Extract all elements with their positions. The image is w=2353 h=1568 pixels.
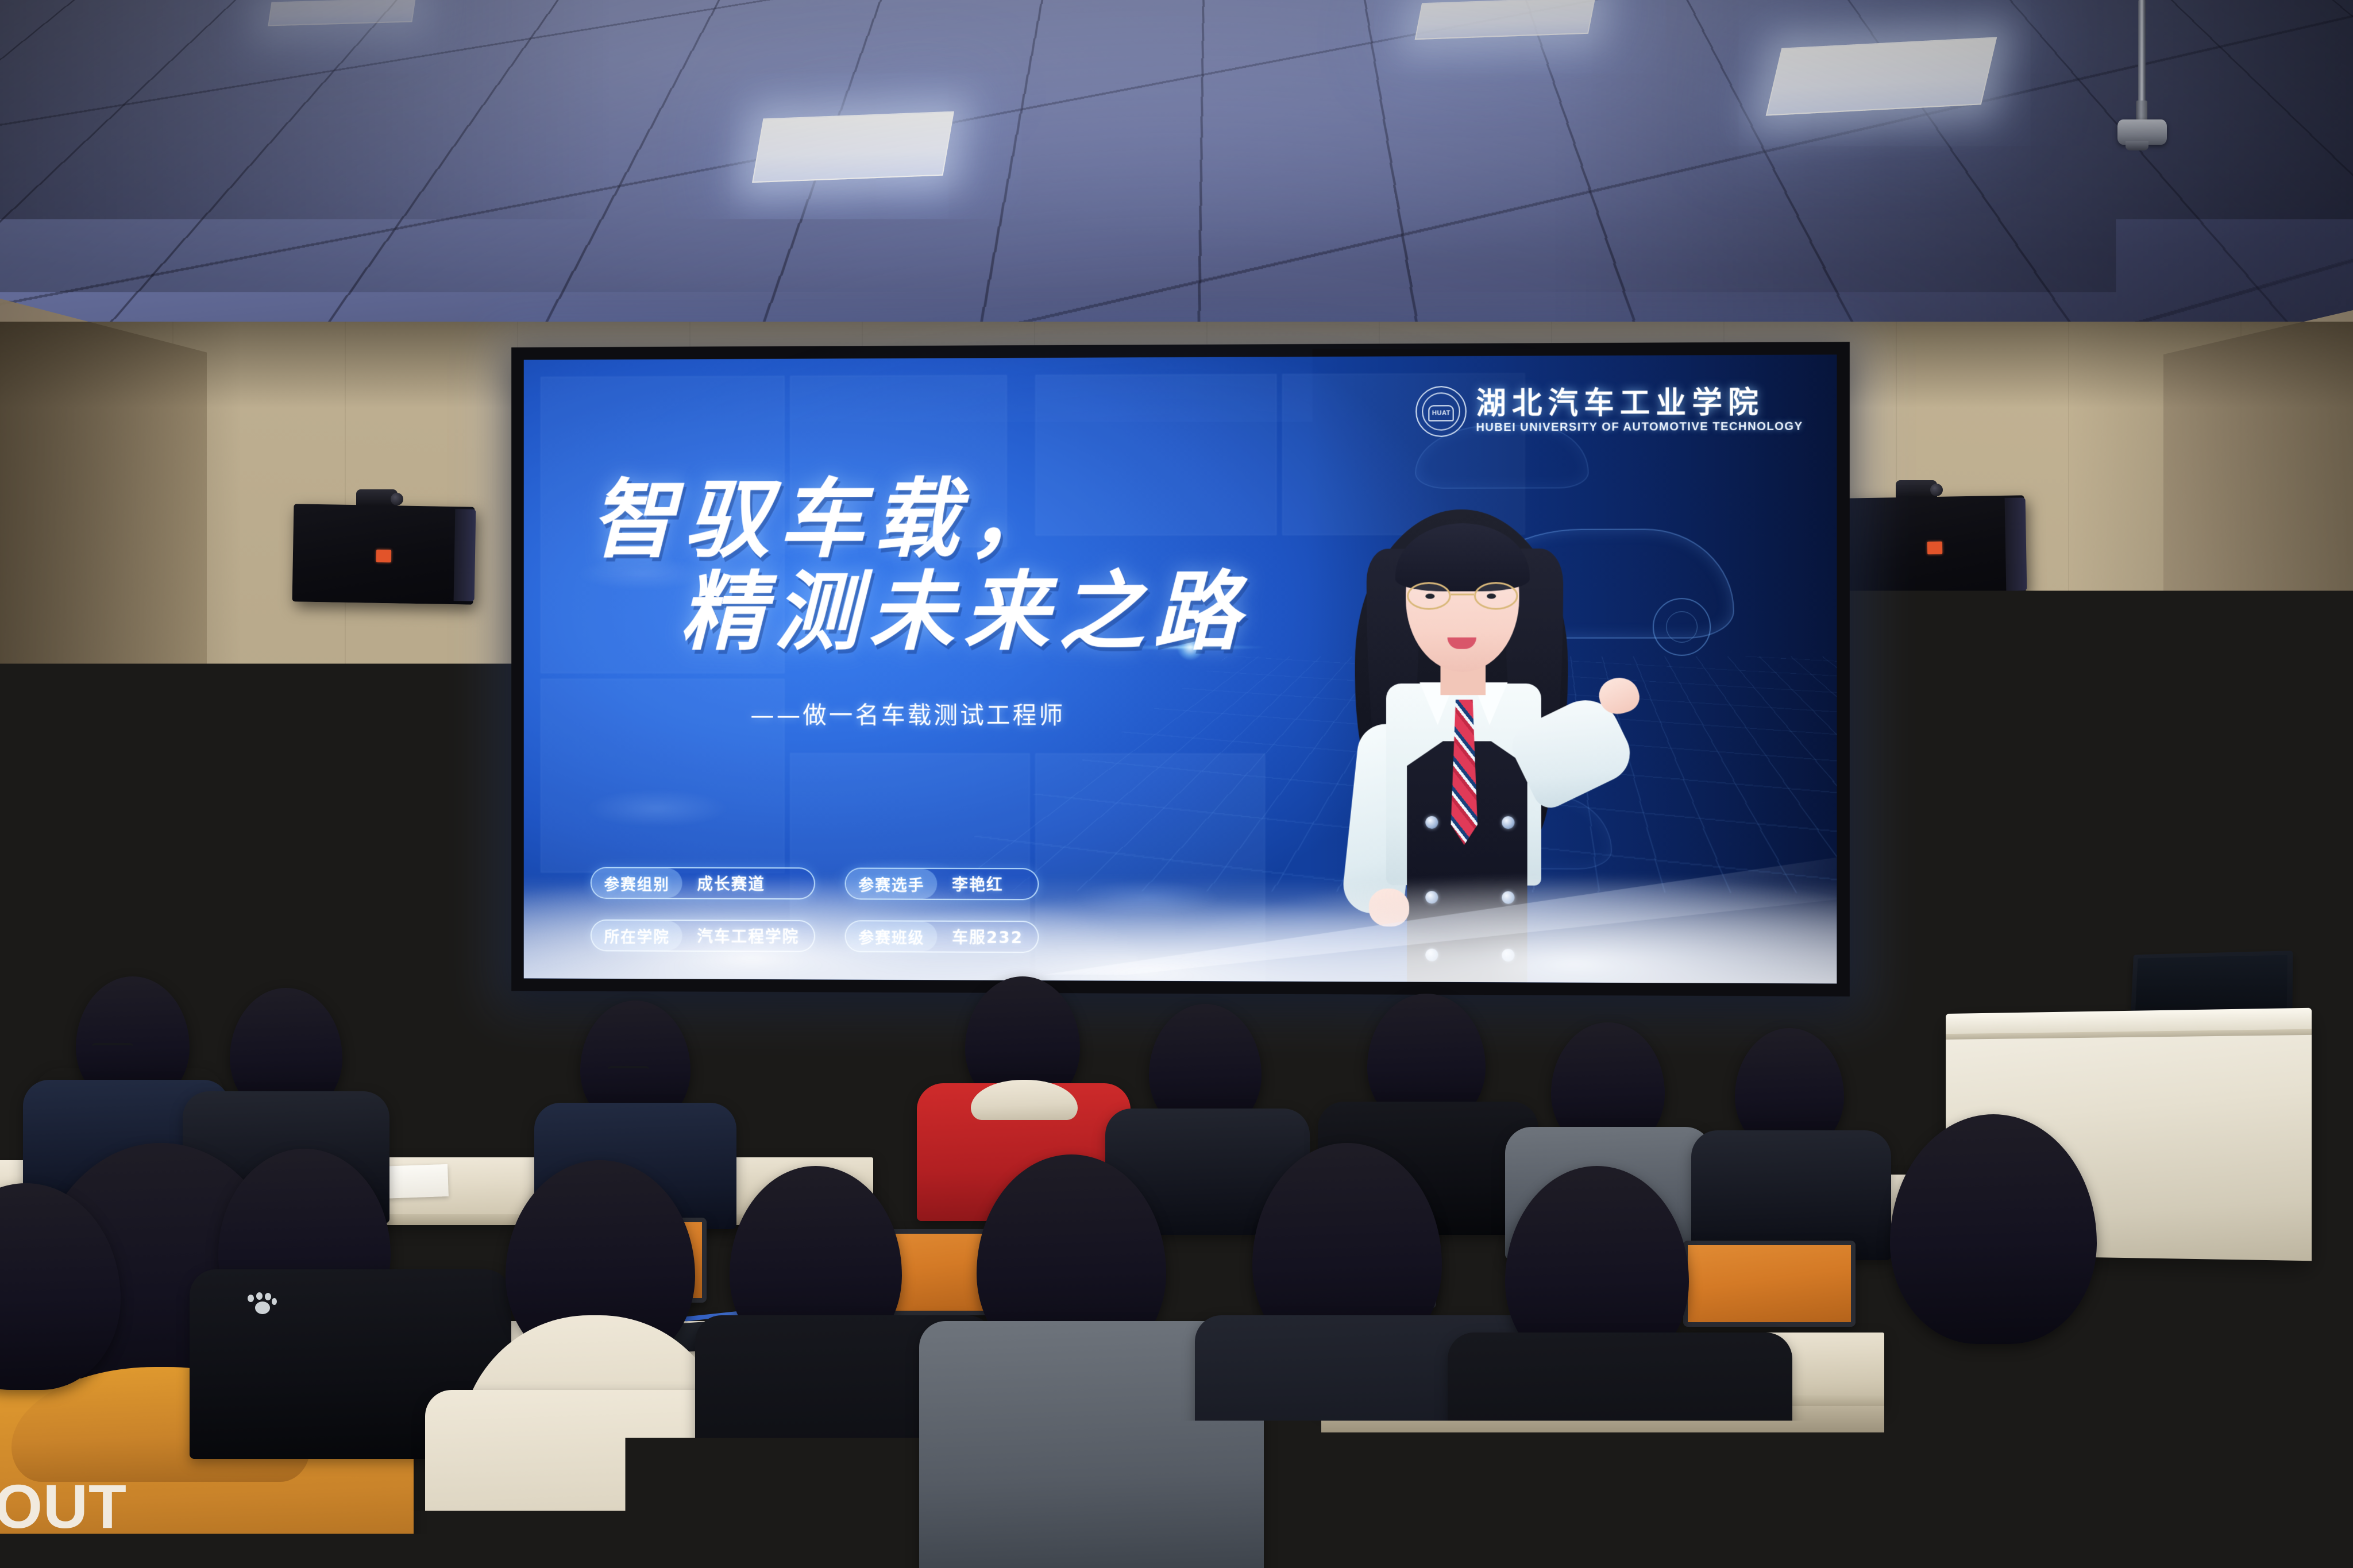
slide-mist-effect	[524, 853, 1837, 984]
glasses-lens-left	[1814, 835, 1845, 854]
slide-bg-car	[564, 759, 751, 845]
ceiling-light-panel	[1766, 37, 1997, 115]
slide-title-line-2: 精测未来之路	[680, 565, 1249, 658]
eyeglasses-icon	[608, 1066, 649, 1081]
ceiling-light-panel	[1415, 0, 1596, 40]
paw-print-icon	[247, 1292, 277, 1318]
wall-speaker-right	[1843, 495, 2026, 597]
slide-title-block: 智驭车载， 精测未来之路	[591, 472, 1249, 658]
slide-title-line-1: 智驭车载，	[591, 472, 1249, 566]
presentation-slide: HUAT 湖北汽车工业学院 HUBEI UNIVERSITY OF AUTOMO…	[524, 354, 1837, 983]
presenter-hand-on-folder	[1815, 1125, 1857, 1171]
hoodie-print-text: OUT	[0, 1470, 127, 1542]
ceiling-light-panel	[268, 0, 415, 26]
speaker-brand-badge	[1927, 542, 1942, 554]
university-name-cn: 湖北汽车工业学院	[1476, 388, 1803, 419]
slide-subtitle: ——做一名车载测试工程师	[750, 696, 1065, 731]
jacket-print-tothe: TO THE	[2091, 1453, 2106, 1503]
eyeglasses-icon	[92, 1043, 133, 1058]
jacket-print-tothe: TO THE	[2275, 1447, 2324, 1462]
university-name-en: HUBEI UNIVERSITY OF AUTOMOTIVE TECHNOLOG…	[1476, 420, 1803, 434]
speaker-side-panel	[454, 509, 476, 601]
portrait-vest-button	[1425, 816, 1438, 829]
university-name-block: 湖北汽车工业学院 HUBEI UNIVERSITY OF AUTOMOTIVE …	[1476, 388, 1803, 434]
wireframe-wheel-icon	[1653, 598, 1711, 656]
glasses-bridge	[1845, 842, 1858, 844]
projector-mount-pole	[2138, 0, 2146, 103]
jacket-print-west: WEST	[2013, 1448, 2040, 1520]
portrait-eye-left	[1425, 594, 1434, 599]
wall-speaker-left	[292, 504, 475, 604]
camera-lens-icon	[1924, 624, 1937, 636]
audience-torso	[1448, 1333, 1792, 1568]
seal-abbreviation: HUAT	[1432, 410, 1451, 416]
jacket-print-tothe: TO THE	[2062, 1453, 2077, 1503]
speaker-brand-badge	[376, 550, 391, 562]
jacket-print-stern: STERN	[2120, 1390, 2201, 1416]
projection-screen: HUAT 湖北汽车工业学院 HUBEI UNIVERSITY OF AUTOMO…	[511, 342, 1850, 997]
portrait-vest-button	[1502, 816, 1514, 829]
ceiling-light-panel	[752, 111, 954, 183]
presenter-speaker	[1729, 778, 1970, 1215]
lecture-hall-scene: HUAT 湖北汽车工业学院 HUBEI UNIVERSITY OF AUTOMO…	[0, 0, 2353, 1568]
glasses-lens-right	[1858, 835, 1889, 854]
ceiling-shadow-left	[0, 0, 612, 368]
glasses-lens-right	[1474, 582, 1518, 609]
glasses-bridge	[1451, 593, 1474, 595]
portrait-striped-tie	[1451, 700, 1478, 845]
presenter-glasses-icon	[1814, 835, 1889, 854]
jacket-print-western-2: WESTERN	[2160, 1424, 2273, 1449]
university-logo-lockup: HUAT 湖北汽车工业学院 HUBEI UNIVERSITY OF AUTOMO…	[1416, 385, 1803, 437]
portrait-eye-right	[1487, 593, 1496, 598]
portrait-glasses-icon	[1407, 582, 1518, 609]
speaker-side-panel	[2005, 497, 2027, 591]
projector-lens	[2126, 141, 2148, 150]
ceiling	[0, 0, 2353, 368]
university-seal-icon: HUAT	[1416, 386, 1467, 437]
